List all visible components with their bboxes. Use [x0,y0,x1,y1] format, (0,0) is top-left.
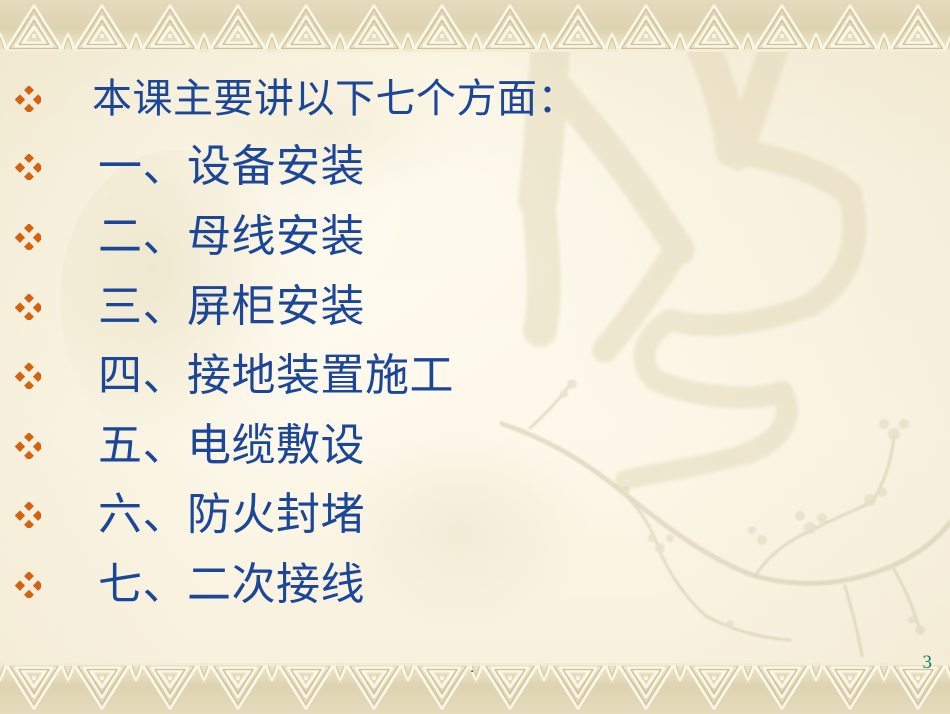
bullet-line-item-5: 五、电缆敷设 [0,413,950,479]
bullet-line-item-3: 三、屏柜安装 [0,274,950,340]
list-item-text: 五、电缆敷设 [98,424,365,468]
heading-text: 本课主要讲以下七个方面： [92,79,578,119]
diamond-cluster-icon [14,85,42,113]
page-number: 3 [923,653,933,672]
bullet-line-item-7: 七、二次接线 [0,552,950,618]
bullet-line-heading: 本课主要讲以下七个方面： [0,66,950,132]
bullet-line-item-4: 四、接地装置施工 [0,343,950,409]
diamond-cluster-icon [14,362,42,390]
list-item-text: 三、屏柜安装 [98,285,365,329]
bullet-line-item-2: 二、母线安装 [0,204,950,270]
list-item-text: 二、母线安装 [98,215,365,259]
list-item-text: 四、接地装置施工 [98,354,454,398]
list-item-text: 一、设备安装 [98,145,365,189]
footer-dot: . [470,660,474,675]
diamond-cluster-icon [14,153,42,181]
diamond-cluster-icon [14,501,42,529]
diamond-cluster-icon [14,223,42,251]
slide-canvas: 本课主要讲以下七个方面： 一、设备安装 [0,0,950,714]
diamond-cluster-icon [14,571,42,599]
list-item-text: 六、防火封堵 [98,493,365,537]
slide-body: 本课主要讲以下七个方面： 一、设备安装 [0,52,950,663]
bullet-line-item-1: 一、设备安装 [0,134,950,200]
diamond-cluster-icon [14,293,42,321]
bullet-line-item-6: 六、防火封堵 [0,482,950,548]
list-item-text: 七、二次接线 [98,563,365,607]
diamond-cluster-icon [14,432,42,460]
